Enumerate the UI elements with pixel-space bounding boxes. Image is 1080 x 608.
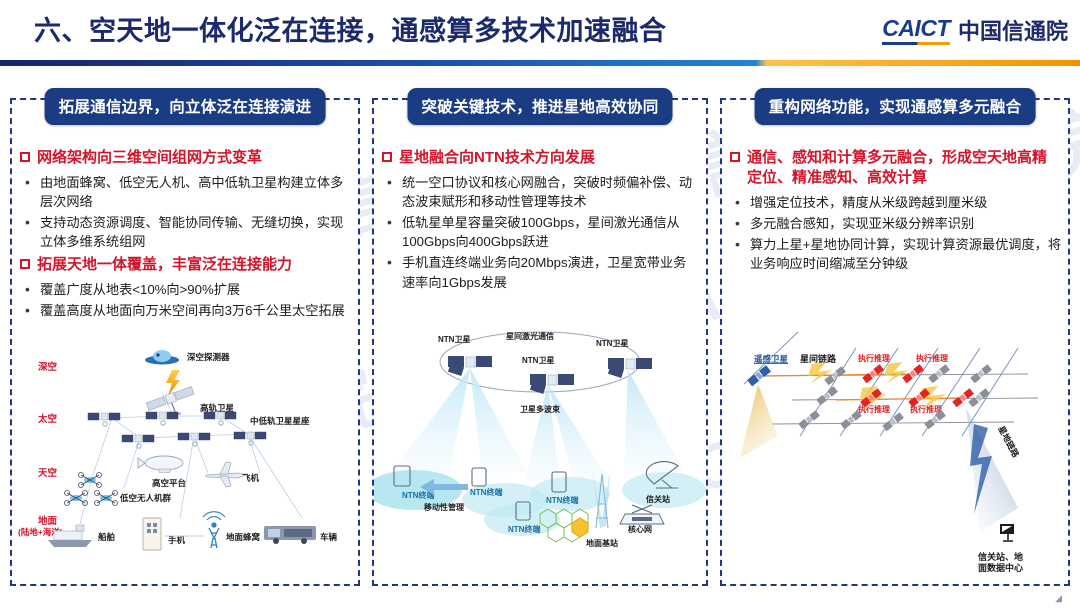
- caict-logo-mark: CAICT: [882, 15, 950, 45]
- list-item: 手机直连终端业务向20Mbps演进，卫星宽带业务速率向1Gbps发展: [380, 253, 699, 291]
- svg-text:深空: 深空: [38, 361, 58, 373]
- svg-text:太空: 太空: [38, 413, 58, 425]
- figure-ntn-satellite-terrestrial: 星间激光通信 NTN卫星: [374, 322, 706, 584]
- svg-text:船舶: 船舶: [98, 532, 115, 542]
- svg-text:NTN卫星: NTN卫星: [596, 338, 628, 348]
- heading-text: 网络架构向三维空间组网方式变革: [37, 148, 351, 168]
- list-item: 覆盖高度从地面向万米空间再向3万6千公里太空拓展: [18, 301, 351, 320]
- list-item: 多元融合感知，实现亚米级分辨率识别: [728, 214, 1061, 233]
- svg-text:高空平台: 高空平台: [152, 478, 187, 488]
- list-item: 低轨星单星容量突破100Gbps，星间激光通信从100Gbps向400Gbps跃…: [380, 213, 699, 251]
- header-divider-rule: [0, 60, 1080, 66]
- square-bullet-icon: [730, 152, 740, 162]
- svg-text:天空: 天空: [38, 467, 58, 479]
- svg-text:地面基站: 地面基站: [586, 538, 618, 548]
- bullet-list: 统一空口协议和核心网融合，突破时频偏补偿、动态波束赋形和移动性管理等技术 低轨星…: [380, 173, 699, 292]
- list-item: 增强定位技术，精度从米级跨越到厘米级: [728, 193, 1061, 212]
- svg-text:信关站: 信关站: [646, 494, 670, 504]
- svg-text:核心网: 核心网: [628, 524, 652, 534]
- column-banner-0: 拓展通信边界，向立体泛在连接演进: [45, 88, 326, 125]
- caict-logo-text: 中国信通院: [958, 14, 1068, 46]
- svg-text:星间链路: 星间链路: [800, 353, 837, 364]
- svg-text:深空探测器: 深空探测器: [187, 352, 230, 362]
- svg-text:NTN终端: NTN终端: [546, 495, 578, 505]
- list-item: 覆盖广度从地表<10%向>90%扩展: [18, 280, 351, 299]
- svg-text:面数据中心: 面数据中心: [978, 562, 1023, 573]
- svg-text:移动性管理: 移动性管理: [424, 502, 464, 512]
- content-column-2: 重构网络功能，实现通感算多元融合 通信、感知和计算多元融合，形成空天地高精定位、…: [720, 98, 1070, 586]
- svg-text:执行推理: 执行推理: [858, 404, 890, 414]
- svg-text:执行推理: 执行推理: [916, 353, 948, 363]
- svg-text:NTN终端: NTN终端: [508, 524, 540, 534]
- square-bullet-icon: [20, 152, 30, 162]
- svg-text:NTN卫星: NTN卫星: [438, 334, 470, 344]
- svg-text:中低轨卫星星座: 中低轨卫星星座: [250, 416, 310, 426]
- column-body-0: 网络架构向三维空间组网方式变革 由地面蜂窝、低空无人机、高中低轨卫星构建立体多层…: [12, 144, 358, 323]
- svg-text:执行推理: 执行推理: [858, 353, 890, 363]
- heading-row: 通信、感知和计算多元融合，形成空天地高精定位、精准感知、高效计算: [730, 148, 1061, 188]
- svg-text:星间激光通信: 星间激光通信: [506, 331, 554, 341]
- column-banner-1: 突破关键技术，推进星地高效协同: [407, 88, 672, 125]
- heading-row: 拓展天地一体覆盖，丰富泛在连接能力: [20, 255, 351, 275]
- heading-text: 星地融合向NTN技术方向发展: [399, 148, 699, 168]
- heading-row: 星地融合向NTN技术方向发展: [382, 148, 699, 168]
- svg-text:地面: 地面: [38, 515, 58, 527]
- svg-text:NTN卫星: NTN卫星: [522, 355, 554, 365]
- bullet-list: 增强定位技术，精度从米级跨越到厘米级 多元融合感知，实现亚米级分辨率识别 算力上…: [728, 193, 1061, 274]
- page-title: 六、空天地一体化泛在连接，通感算多技术加速融合: [34, 9, 667, 48]
- svg-text:星地链路: 星地链路: [996, 424, 1021, 459]
- column-body-1: 星地融合向NTN技术方向发展 统一空口协议和核心网融合，突破时频偏补偿、动态波束…: [374, 144, 706, 295]
- svg-text:手机: 手机: [168, 535, 186, 545]
- figure-space-air-ground-network: 深空 太空 天空 地面 (陆地+海洋): [12, 338, 358, 584]
- page-marker: ◢: [1055, 593, 1062, 604]
- heading-row: 网络架构向三维空间组网方式变革: [20, 148, 351, 168]
- bullet-list: 由地面蜂窝、低空无人机、高中低轨卫星构建立体多层次网络 支持动态资源调度、智能协…: [18, 173, 351, 252]
- svg-text:信关站、地: 信关站、地: [978, 551, 1023, 562]
- bullet-list: 覆盖广度从地表<10%向>90%扩展 覆盖高度从地面向万米空间再向3万6千公里太…: [18, 280, 351, 320]
- brand-logo: CAICT 中国信通院: [882, 14, 1068, 46]
- list-item: 由地面蜂窝、低空无人机、高中低轨卫星构建立体多层次网络: [18, 173, 351, 211]
- svg-text:卫星多波束: 卫星多波束: [520, 404, 561, 414]
- slide-header: 六、空天地一体化泛在连接，通感算多技术加速融合 CAICT 中国信通院: [0, 0, 1080, 60]
- svg-text:飞机: 飞机: [242, 473, 260, 483]
- svg-text:NTN终端: NTN终端: [470, 487, 502, 497]
- svg-text:低空无人机群: 低空无人机群: [119, 493, 172, 503]
- heading-text: 通信、感知和计算多元融合，形成空天地高精定位、精准感知、高效计算: [747, 148, 1061, 188]
- heading-text: 拓展天地一体覆盖，丰富泛在连接能力: [37, 255, 351, 275]
- svg-text:地面蜂窝: 地面蜂窝: [226, 532, 261, 542]
- column-body-2: 通信、感知和计算多元融合，形成空天地高精定位、精准感知、高效计算 增强定位技术，…: [722, 144, 1068, 276]
- svg-text:车辆: 车辆: [320, 532, 338, 542]
- content-column-1: 突破关键技术，推进星地高效协同 星地融合向NTN技术方向发展 统一空口协议和核心…: [372, 98, 708, 586]
- figure-satellite-computing-mesh: 遥感卫星 星间链路 执行推理 执行推理 执行推理 执行推理: [722, 332, 1068, 582]
- svg-text:遥感卫星: 遥感卫星: [754, 354, 789, 364]
- list-item: 统一空口协议和核心网融合，突破时频偏补偿、动态波束赋形和移动性管理等技术: [380, 173, 699, 211]
- content-column-0: 拓展通信边界，向立体泛在连接演进 网络架构向三维空间组网方式变革 由地面蜂窝、低…: [10, 98, 360, 586]
- list-item: 支持动态资源调度、智能协同传输、无缝切换，实现立体多维系统组网: [18, 213, 351, 251]
- column-banner-2: 重构网络功能，实现通感算多元融合: [755, 88, 1036, 125]
- svg-text:高轨卫星: 高轨卫星: [200, 403, 235, 413]
- square-bullet-icon: [20, 259, 30, 269]
- square-bullet-icon: [382, 152, 392, 162]
- list-item: 算力上星+星地协同计算，实现计算资源最优调度，将业务响应时间缩减至分钟级: [728, 235, 1061, 273]
